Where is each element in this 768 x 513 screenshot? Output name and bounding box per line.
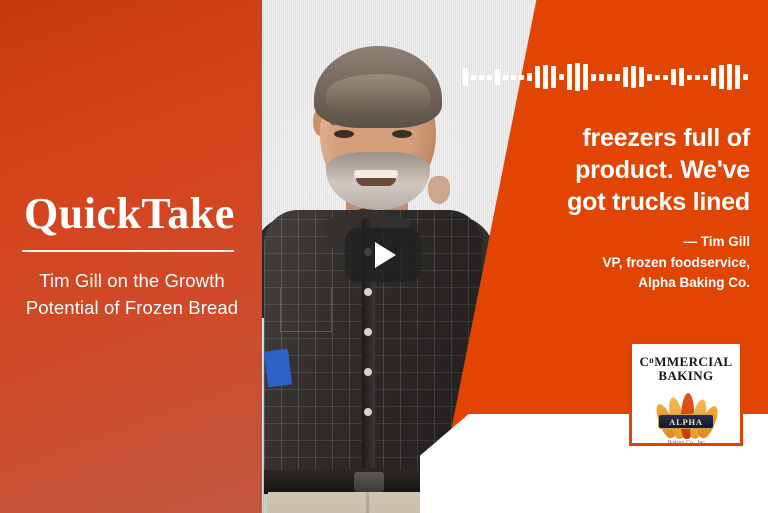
alpha-baking-logo: ALPHA Baking Co., Inc. [655, 390, 717, 443]
shirt-button [364, 328, 372, 336]
publication-logo-text: CoMMERCIAL BAKING [639, 355, 732, 382]
waveform-bar [735, 65, 740, 89]
logo-line2: BAKING [658, 368, 713, 383]
waveform-bar [511, 75, 516, 80]
waveform-bar [647, 74, 652, 81]
waveform-bar [471, 75, 476, 80]
waveform-bar [551, 66, 556, 88]
waveform-bar [463, 68, 468, 86]
waveform-bar [591, 74, 596, 81]
page-title: QuickTake [24, 192, 246, 236]
shirt-button [364, 288, 372, 296]
belt-buckle [354, 472, 384, 492]
waveform-bar [543, 65, 548, 89]
waveform-bar [575, 63, 580, 91]
waveform-bar [583, 64, 588, 90]
play-button[interactable] [345, 228, 421, 282]
waveform-bar [527, 73, 532, 81]
video-thumbnail: freezers full of product. We've got truc… [0, 0, 768, 513]
audio-waveform-icon [463, 62, 748, 92]
hair [314, 46, 442, 128]
waveform-bar [479, 75, 484, 80]
shirt-button [364, 408, 372, 416]
waveform-bar [535, 66, 540, 88]
play-triangle-icon [375, 242, 396, 268]
waveform-bar [599, 74, 604, 81]
waveform-bar [495, 69, 500, 85]
pull-quote: freezers full of product. We've got truc… [482, 122, 750, 218]
waveform-bar [519, 75, 524, 80]
waveform-bar [671, 69, 676, 85]
waveform-bar [703, 75, 708, 80]
waveform-bar [655, 75, 660, 80]
logo-lockup: CoMMERCIAL BAKING ALPHA Baking Co., Inc. [629, 341, 743, 446]
waveform-bar [695, 75, 700, 80]
shirt-button [364, 368, 372, 376]
waveform-bar [559, 74, 564, 80]
waveform-bar [631, 66, 636, 88]
eye-left [334, 130, 354, 138]
waveform-bar [607, 74, 612, 81]
episode-subtitle: Tim Gill on the Growth Potential of Froz… [18, 268, 246, 322]
quote-attribution: — Tim Gill VP, frozen foodservice, Alpha… [482, 232, 750, 294]
waveform-bar [687, 75, 692, 80]
title-panel: QuickTake Tim Gill on the Growth Potenti… [0, 0, 262, 513]
waveform-bar [711, 68, 716, 86]
waveform-bar [679, 68, 684, 86]
waveform-bar [503, 75, 508, 80]
waveform-bar [727, 64, 732, 90]
waveform-bar [615, 74, 620, 81]
waveform-bar [487, 75, 492, 80]
badge-lanyard [264, 349, 292, 388]
waveform-bar [623, 67, 628, 87]
eye-right [392, 130, 412, 138]
waveform-bar [719, 65, 724, 89]
title-divider [22, 250, 234, 252]
alpha-tagline: Baking Co., Inc. [661, 440, 713, 446]
alpha-wordmark: ALPHA [658, 414, 714, 429]
waveform-bar [663, 75, 668, 80]
shirt-pocket [280, 288, 332, 332]
waveform-bar [743, 74, 748, 80]
nose [428, 176, 450, 204]
waveform-bar [567, 64, 572, 90]
mouth [354, 170, 398, 186]
waveform-bar [639, 67, 644, 87]
